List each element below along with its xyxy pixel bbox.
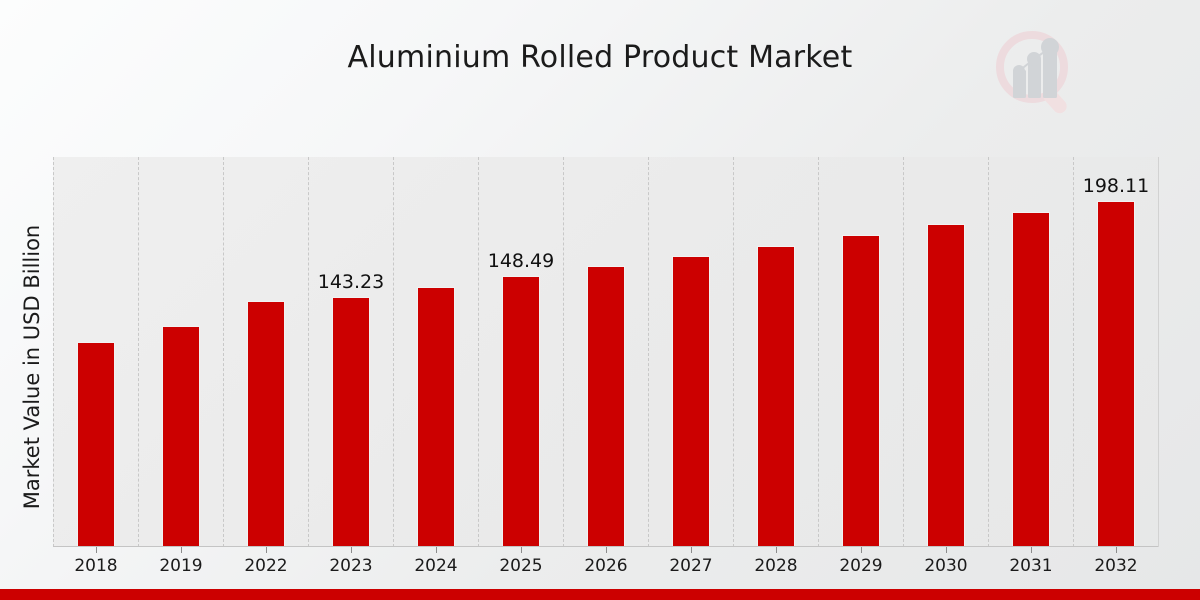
magnifier-bar-chart-logo-icon <box>985 25 1085 120</box>
bar-2028[interactable] <box>757 246 795 547</box>
plot-area <box>53 157 1159 547</box>
bar-value-label-2023: 143.23 <box>291 271 411 293</box>
bar-2025[interactable] <box>502 276 540 547</box>
x-tick-mark <box>691 547 692 553</box>
x-tick-label-2032: 2032 <box>1056 556 1176 576</box>
x-tick-mark <box>96 547 97 553</box>
bar-2029[interactable] <box>842 235 880 547</box>
footer-accent-strip <box>0 589 1200 600</box>
bar-2031[interactable] <box>1012 212 1050 547</box>
x-tick-mark <box>521 547 522 553</box>
x-tick-mark <box>861 547 862 553</box>
bar-2027[interactable] <box>672 256 710 547</box>
bar-2023[interactable] <box>332 297 370 547</box>
bar-2032[interactable] <box>1097 201 1135 547</box>
x-tick-mark <box>436 547 437 553</box>
bar-2018[interactable] <box>77 342 115 547</box>
x-tick-mark <box>776 547 777 553</box>
x-tick-mark <box>606 547 607 553</box>
bar-series <box>53 157 1158 547</box>
bar-2024[interactable] <box>417 287 455 547</box>
y-axis-title: Market Value in USD Billion <box>20 167 44 567</box>
bar-value-label-2025: 148.49 <box>461 250 581 272</box>
chart-canvas: Aluminium Rolled Product Market Market V… <box>0 0 1200 600</box>
bar-2026[interactable] <box>587 266 625 547</box>
bar-2019[interactable] <box>162 326 200 547</box>
bar-value-label-2032: 198.11 <box>1056 175 1176 197</box>
x-tick-mark <box>351 547 352 553</box>
bar-2022[interactable] <box>247 301 285 547</box>
x-tick-mark <box>266 547 267 553</box>
x-tick-mark <box>1031 547 1032 553</box>
bar-2030[interactable] <box>927 224 965 547</box>
x-tick-mark <box>946 547 947 553</box>
x-tick-mark <box>1116 547 1117 553</box>
x-tick-mark <box>181 547 182 553</box>
